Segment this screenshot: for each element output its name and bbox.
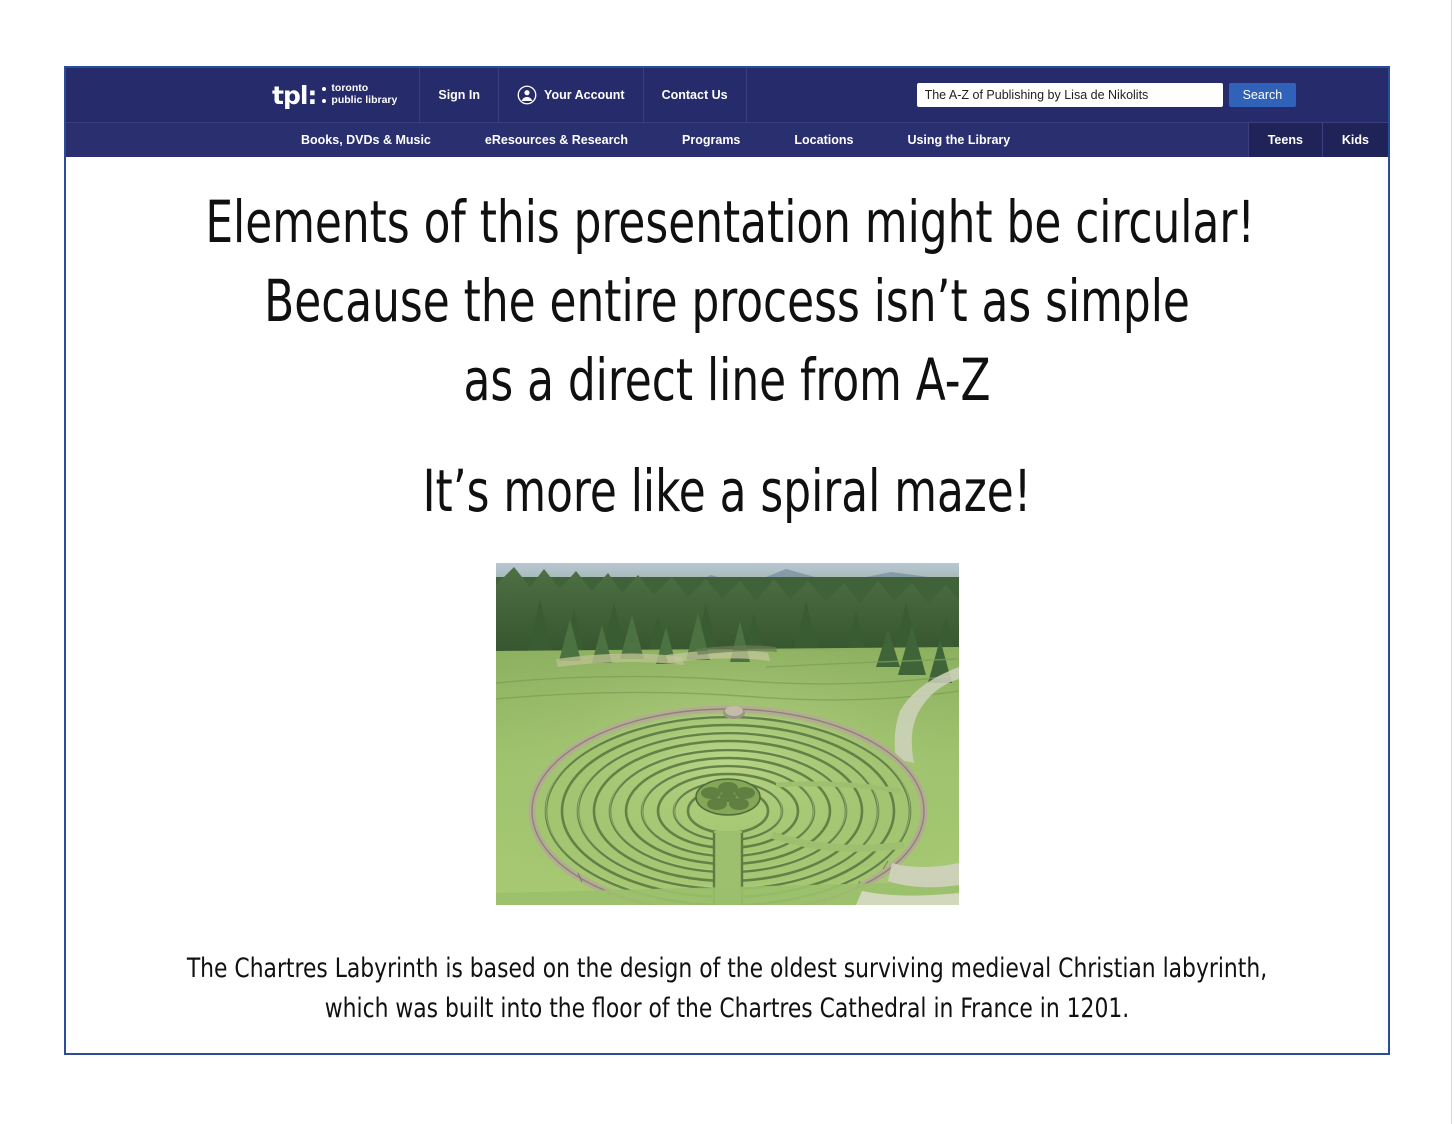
tpl-header-bar: tpl: toronto public library Sign In Your…	[66, 68, 1388, 122]
slide-headline: Elements of this presentation might be c…	[205, 183, 1248, 420]
contact-us-label: Contact Us	[662, 88, 728, 102]
nav-item-eresources-research[interactable]: eResources & Research	[458, 123, 655, 157]
nav-label: Locations	[794, 133, 853, 147]
headline-line-1: Elements of this presentation might be c…	[205, 183, 1248, 262]
nav-item-books-dvds-music[interactable]: Books, DVDs & Music	[274, 123, 458, 157]
tpl-nav-bar: Books, DVDs & Music eResources & Researc…	[66, 122, 1388, 157]
tpl-logo-line2: public library	[322, 95, 397, 107]
slide-subline: It’s more like a spiral maze!	[205, 460, 1248, 524]
presentation-slide: tpl: toronto public library Sign In Your…	[64, 66, 1390, 1055]
labyrinth-photo-container	[496, 563, 959, 905]
tpl-logo-wordmark: toronto public library	[322, 83, 397, 107]
nav-label: Using the Library	[907, 133, 1010, 147]
sign-in-label: Sign In	[438, 88, 480, 102]
nav-left-spacer	[66, 123, 274, 157]
nav-item-programs[interactable]: Programs	[655, 123, 767, 157]
headline-line-2: Because the entire process isn’t as simp…	[205, 262, 1248, 341]
nav-label: Books, DVDs & Music	[301, 133, 431, 147]
nav-tab-teens[interactable]: Teens	[1248, 123, 1322, 157]
search-input[interactable]	[917, 83, 1223, 107]
photo-caption: The Chartres Labyrinth is based on the d…	[168, 949, 1286, 1027]
nav-tab-kids[interactable]: Kids	[1322, 123, 1388, 157]
nav-label: eResources & Research	[485, 133, 628, 147]
search-button[interactable]: Search	[1229, 83, 1297, 107]
page-edge-line	[1451, 0, 1452, 1124]
nav-tab-label: Teens	[1268, 133, 1303, 147]
sign-in-link[interactable]: Sign In	[420, 68, 499, 122]
header-search-area: Search	[917, 68, 1297, 122]
header-left-spacer	[66, 68, 272, 122]
headline-line-3: as a direct line from A-Z	[205, 341, 1248, 420]
caption-line-2: which was built into the floor of the Ch…	[168, 989, 1286, 1028]
slide-content: Elements of this presentation might be c…	[66, 157, 1388, 1028]
nav-label: Programs	[682, 133, 740, 147]
your-account-label: Your Account	[544, 88, 625, 102]
nav-item-locations[interactable]: Locations	[767, 123, 880, 157]
your-account-link[interactable]: Your Account	[499, 68, 644, 122]
nav-right-tabs: Teens Kids	[1248, 123, 1388, 157]
nav-item-using-the-library[interactable]: Using the Library	[880, 123, 1037, 157]
tpl-logo[interactable]: tpl: toronto public library	[272, 68, 420, 122]
labyrinth-photo	[496, 563, 959, 905]
contact-us-link[interactable]: Contact Us	[644, 68, 747, 122]
nav-tab-label: Kids	[1342, 133, 1369, 147]
tpl-logo-mark: tpl:	[272, 83, 316, 108]
user-account-icon	[517, 85, 537, 105]
caption-line-1: The Chartres Labyrinth is based on the d…	[168, 949, 1286, 988]
